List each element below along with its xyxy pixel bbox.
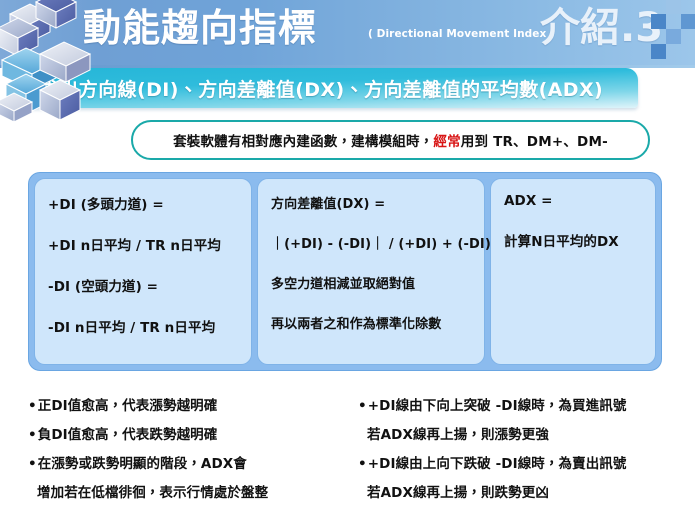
bullet-item-continuation: 若ADX線再上揚，則跌勢更凶 bbox=[358, 479, 688, 508]
formula-panel: +DI (多頭力道) = +DI n日平均 / TR n日平均 -DI (空頭力… bbox=[28, 172, 662, 371]
bullet-item: •負DI值愈高，代表跌勢越明確 bbox=[28, 421, 358, 450]
bullet-marker: • bbox=[28, 398, 37, 414]
formula-line: 方向差離值(DX) = bbox=[271, 193, 473, 212]
formula-line: 計算N日平均的DX bbox=[504, 230, 644, 250]
formula-line: ADX = bbox=[504, 193, 644, 209]
bullet-text: +DI線由上向下跌破 -DI線時，為賣出訊號 bbox=[368, 456, 627, 472]
bullet-column-right: •+DI線由下向上突破 -DI線時，為買進訊號 若ADX線再上揚，則漲勢更強 •… bbox=[358, 392, 688, 508]
bullet-text: 增加若在低檔徘徊，表示行情處於盤整 bbox=[37, 485, 268, 501]
bullet-marker: • bbox=[28, 456, 37, 472]
bullet-marker: • bbox=[28, 427, 37, 443]
formula-line: -DI (空頭力道) = bbox=[48, 275, 240, 295]
bullet-text: 若ADX線再上揚，則漲勢更強 bbox=[367, 427, 549, 443]
bullet-column-left: •正DI值愈高，代表漲勢越明確 •負DI值愈高，代表跌勢越明確 •在漲勢或跌勢明… bbox=[28, 392, 358, 508]
topic-bar: 求出方向線(DI)、方向差離值(DX)、方向差離值的平均數(ADX) bbox=[28, 68, 638, 108]
bullet-item: •+DI線由下向上突破 -DI線時，為買進訊號 bbox=[358, 392, 688, 421]
formula-line: +DI (多頭力道) = bbox=[48, 193, 240, 213]
bullet-section: •正DI值愈高，代表漲勢越明確 •負DI值愈高，代表跌勢越明確 •在漲勢或跌勢明… bbox=[0, 392, 695, 515]
formula-line: 多空力道相減並取絕對值 bbox=[271, 273, 473, 292]
formula-line: -DI n日平均 / TR n日平均 bbox=[48, 316, 240, 336]
formula-line: 再以兩者之和作為標準化除數 bbox=[271, 313, 473, 332]
dx-formula-box: 方向差離值(DX) = ｜(+DI) - (-DI)｜ / (+DI) + (-… bbox=[257, 178, 485, 365]
bullet-item-continuation: 增加若在低檔徘徊，表示行情處於盤整 bbox=[28, 479, 358, 508]
formula-line: +DI n日平均 / TR n日平均 bbox=[48, 234, 240, 254]
lesson-number-label: 介紹.3 bbox=[540, 0, 663, 56]
note-callout: 套裝軟體有相對應內建函數，建構模組時，經常用到 TR、DM+、DM- bbox=[131, 120, 650, 160]
bullet-text: 正DI值愈高，代表漲勢越明確 bbox=[38, 398, 218, 414]
note-highlight: 經常 bbox=[433, 134, 460, 150]
adx-formula-box: ADX = 計算N日平均的DX bbox=[490, 178, 656, 365]
note-text-after: 用到 TR、DM+、DM- bbox=[461, 134, 608, 150]
bullet-marker: • bbox=[358, 456, 367, 472]
bullet-marker: • bbox=[358, 398, 367, 414]
header-band: 動能趨向指標 ( Directional Movement Index ) 介紹… bbox=[0, 0, 695, 68]
bullet-text: 負DI值愈高，代表跌勢越明確 bbox=[38, 427, 218, 443]
note-callout-text: 套裝軟體有相對應內建函數，建構模組時，經常用到 TR、DM+、DM- bbox=[173, 130, 608, 150]
page-title: 動能趨向指標 bbox=[83, 2, 317, 54]
bullet-item: •在漲勢或跌勢明顯的階段，ADX會 bbox=[28, 450, 358, 479]
bullet-item-continuation: 若ADX線再上揚，則漲勢更強 bbox=[358, 421, 688, 450]
topic-bar-label: 求出方向線(DI)、方向差離值(DX)、方向差離值的平均數(ADX) bbox=[40, 75, 603, 102]
isometric-cubes-icon bbox=[0, 0, 100, 122]
bullet-text: 在漲勢或跌勢明顯的階段，ADX會 bbox=[38, 456, 247, 472]
bullet-item: •正DI值愈高，代表漲勢越明確 bbox=[28, 392, 358, 421]
bullet-item: •+DI線由上向下跌破 -DI線時，為賣出訊號 bbox=[358, 450, 688, 479]
header-block-accent bbox=[651, 0, 695, 68]
formula-line: ｜(+DI) - (-DI)｜ / (+DI) + (-DI) bbox=[271, 233, 473, 252]
bullet-text: +DI線由下向上突破 -DI線時，為買進訊號 bbox=[368, 398, 627, 414]
page-subtitle-english: ( Directional Movement Index ) bbox=[368, 28, 555, 40]
di-formula-box: +DI (多頭力道) = +DI n日平均 / TR n日平均 -DI (空頭力… bbox=[34, 178, 252, 365]
bullet-text: 若ADX線再上揚，則跌勢更凶 bbox=[367, 485, 549, 501]
note-text-before: 套裝軟體有相對應內建函數，建構模組時， bbox=[173, 134, 433, 150]
